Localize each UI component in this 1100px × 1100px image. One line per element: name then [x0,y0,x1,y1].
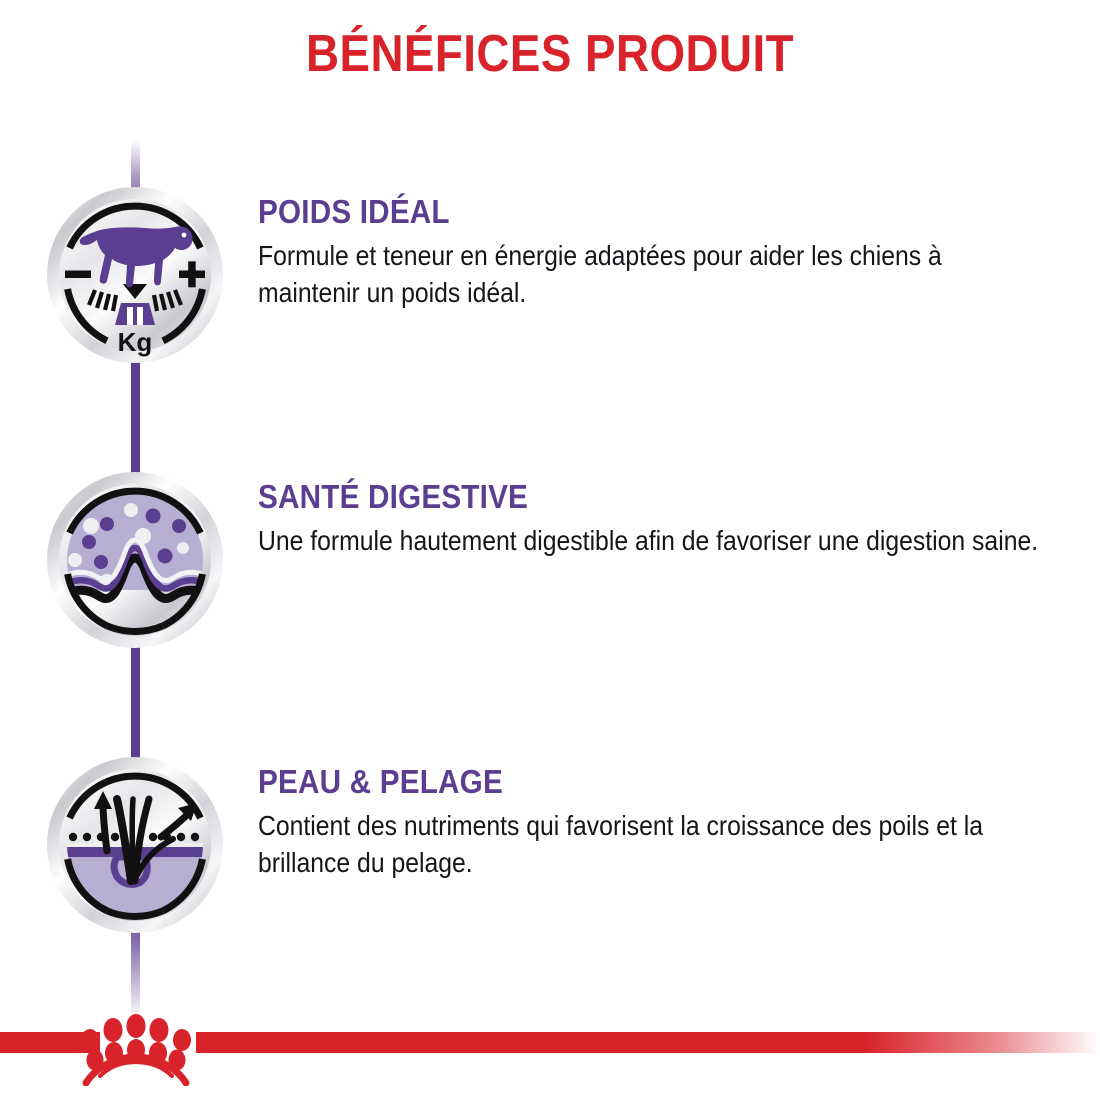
skin-coat-hair-follicle-icon [45,755,225,935]
digestive-health-icon [45,470,225,650]
benefit-row-skin-coat: PEAU & PELAGE Contient des nutriments qu… [0,755,1100,945]
weight-unit-label: Kg [118,327,153,357]
benefit-description-ideal-weight: Formule et teneur en énergie adaptées po… [258,238,1050,311]
product-benefits-page: BÉNÉFICES PRODUIT [0,0,1100,1100]
page-title: BÉNÉFICES PRODUIT [66,24,1034,84]
benefit-description-digestive-health: Une formule hautement digestible afin de… [258,523,1050,560]
royal-canin-crown-logo [74,1004,198,1086]
benefit-title-skin-coat: PEAU & PELAGE [258,763,969,801]
footer [0,1000,1100,1100]
benefit-title-ideal-weight: POIDS IDÉAL [258,193,969,231]
benefit-copy-2: SANTÉ DIGESTIVE Une formule hautement di… [258,478,1048,560]
benefit-row-digestive-health: SANTÉ DIGESTIVE Une formule hautement di… [0,470,1100,660]
benefit-copy-1: POIDS IDÉAL Formule et teneur en énergie… [258,193,1048,311]
benefit-row-ideal-weight: Kg POIDS IDÉAL Formule et teneur en éner… [0,185,1100,375]
benefit-description-skin-coat: Contient des nutriments qui favorisent l… [258,808,1050,881]
benefit-title-digestive-health: SANTÉ DIGESTIVE [258,478,969,516]
footer-bar-right [196,1032,1100,1053]
weight-scale-dog-icon: Kg [45,185,225,365]
benefit-copy-3: PEAU & PELAGE Contient des nutriments qu… [258,763,1048,881]
